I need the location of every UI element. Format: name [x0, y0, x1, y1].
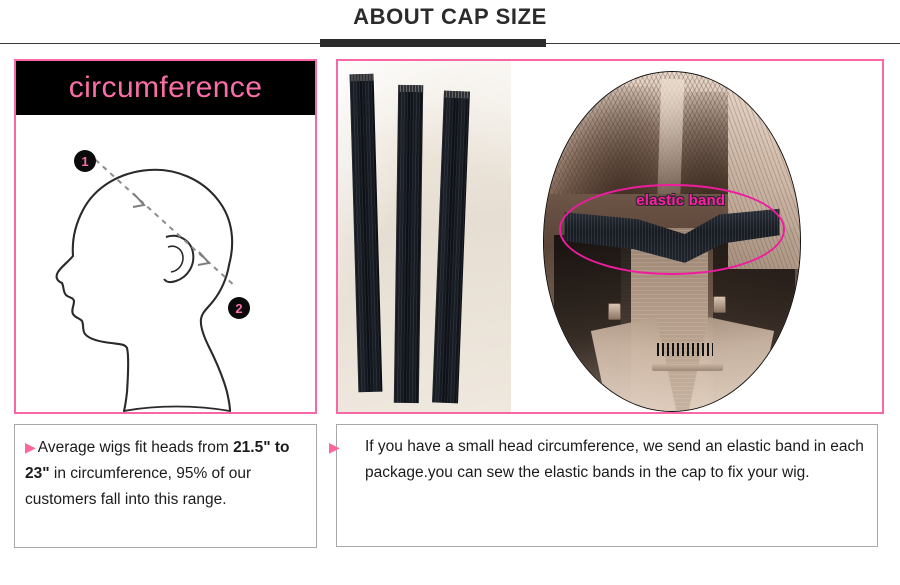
page-title: ABOUT CAP SIZE — [0, 4, 900, 30]
bullet-icon: ▶ — [329, 434, 340, 460]
left-caption-box: ▶Average wigs fit heads from 21.5" to 23… — [14, 424, 317, 548]
elastic-band-photos-panel: elastic band — [336, 59, 884, 414]
wig-cap-interior-photo-area: elastic band — [511, 61, 882, 412]
head-outline-svg — [16, 115, 315, 412]
circumference-label-bar: circumference — [16, 61, 315, 115]
left-caption-part1: Average wigs fit heads from — [38, 439, 233, 456]
adjustable-strap-clip-left — [608, 303, 621, 320]
adjustable-strap-clip-right — [713, 296, 726, 313]
right-caption-body: If you have a small head circumference, … — [365, 438, 864, 481]
right-caption-box: ▶If you have a small head circumference,… — [336, 424, 878, 547]
bullet-icon: ▶ — [25, 439, 36, 455]
band-frayed-end — [398, 85, 423, 92]
wig-cap-interior-photo: elastic band — [543, 71, 801, 412]
head-profile-measurement-diagram: 1 2 — [16, 115, 315, 412]
measure-point-marker-1: 1 — [74, 150, 96, 172]
elastic-band-strip-2 — [394, 85, 423, 403]
left-caption-text: ▶Average wigs fit heads from 21.5" to 23… — [25, 434, 306, 513]
circumference-diagram-panel: circumference 1 2 — [14, 59, 317, 414]
elastic-bands-photo — [338, 61, 511, 412]
wig-comb — [657, 343, 713, 356]
band-frayed-end — [444, 91, 470, 99]
wig-comb-base — [652, 364, 724, 371]
page-header: ABOUT CAP SIZE — [0, 0, 900, 48]
band-frayed-end — [350, 74, 374, 82]
elastic-band-annotation-label: elastic band — [636, 192, 725, 209]
right-caption-text: ▶If you have a small head circumference,… — [347, 434, 867, 486]
measure-point-marker-2: 2 — [228, 297, 250, 319]
header-divider-accent — [320, 39, 546, 47]
circumference-label: circumference — [69, 71, 263, 105]
band-rib-texture — [394, 85, 423, 403]
left-caption-part2: in circumference, 95% of our customers f… — [25, 465, 251, 508]
